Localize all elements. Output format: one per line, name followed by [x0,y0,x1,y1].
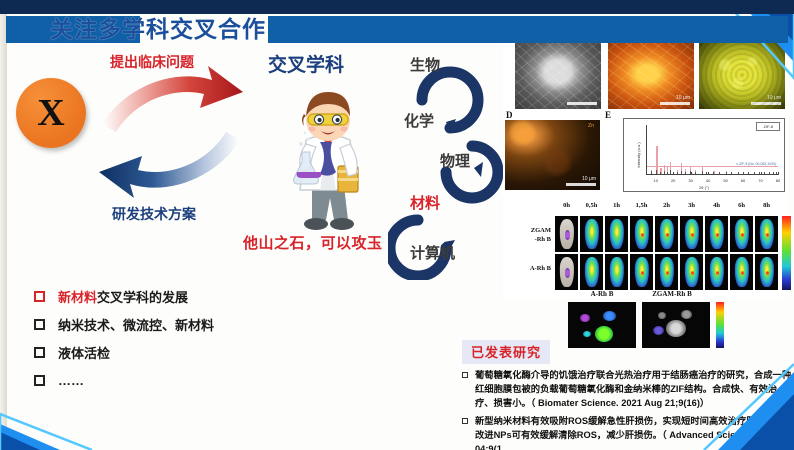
signal-hotspot [716,233,720,237]
signal-hotspot [741,233,745,237]
scalebar-b [660,102,690,105]
topic-bullet-list: 新材料交叉学科的发展 纳米技术、微流控、新材料 液体活检 …… [34,282,334,394]
mouse-body [609,257,623,287]
spiral-label-materials: 材料 [410,192,440,213]
panel-label-e: E [605,110,611,120]
scalebar-c-text: 10 μm [767,95,781,101]
scalebar-c [751,102,781,105]
mouse-image [705,254,728,290]
checkbox-icon[interactable] [34,347,45,358]
panel-label-d: D [506,110,513,120]
xrd-x-tick-label: 30 [688,178,692,183]
mouse-image [630,216,653,252]
signal-hotspot [565,230,570,239]
xrd-x-tick-label: 10 [653,178,657,183]
signal-hotspot [766,271,770,275]
mouse-image [755,216,778,252]
element-tag-zn: Zn [588,123,594,129]
organ-panel-label-1: A-Rh B [591,290,614,298]
timepoint-label: 4h [713,202,720,209]
page-title: 关注多学科交叉合作 [50,13,266,45]
signal-hotspot [666,271,670,275]
signal-hotspot [691,233,695,237]
title-block-right [268,16,788,43]
list-item[interactable]: 纳米技术、微流控、新材料 [34,310,334,338]
slide-title-bar: 关注多学科交叉合作 [0,14,794,44]
signal-hotspot [766,233,770,237]
discipline-spiral-diagram: 生物 化学 物理 材料 计算机 [388,42,506,280]
xrd-x-tick-label: 50 [723,178,727,183]
left-rail [0,14,7,450]
xrd-plot-area: 1020304050607080c-ZIF-8 (No. 00-062-1030… [646,125,778,175]
mouse-body [609,219,623,249]
signal-hotspot [641,233,645,237]
xrd-x-tick [778,172,779,175]
xrd-x-tick [673,172,674,175]
checkbox-icon[interactable] [34,319,45,330]
timepoint-label: 0,5h [586,202,598,209]
xrd-x-tick-label: 40 [706,178,710,183]
organ-blob [603,311,615,321]
xrd-x-tick [761,172,762,175]
xrd-x-tick [708,172,709,175]
checkbox-icon[interactable] [34,375,45,386]
spiral-label-physics: 物理 [440,150,470,171]
timepoint-label: 1h [613,202,620,209]
scalebar-b-text: 10 μm [676,95,690,101]
mouse-image [605,254,628,290]
xrd-reference-stick [764,172,765,174]
xrd-baseline [647,166,778,167]
mouse-image [680,254,703,290]
mouse-image [680,216,703,252]
publication-text-2: 新型纳米材料有效吸附ROS缓解急性肝损伤，实现短时间高效治疗肝损伤。改进NPs可… [475,414,792,450]
mouse-image [555,254,578,290]
xrd-reference-stick [695,172,696,174]
scalebar-d [566,183,596,186]
signal-hotspot [565,268,570,277]
panel-e-xrd-chart: ZIF-8 Intensity (a.u.) 1020304050607080c… [623,118,785,192]
mouse-body [584,219,598,249]
corner-decoration-bottom-left [0,406,150,450]
xrd-reference-stick [731,172,732,174]
xrd-reference-stick [776,172,777,174]
xrd-reference-stick [660,172,661,174]
panel-d-eds-zn-map: Zn 10 μm [505,120,600,190]
xrd-reference-stick [759,172,760,174]
xrd-reference-stick [681,171,682,174]
motto-text: 他山之石，可以攻玉 [243,232,383,253]
checkbox-icon [462,418,468,424]
bullet-text-4: …… [58,373,84,388]
signal-hotspot [741,271,745,275]
spiral-label-computer: 计算机 [410,242,455,263]
signal-hotspot [641,271,645,275]
xrd-reference-stick [706,172,707,174]
panel-a-sem-image [515,41,601,109]
xrd-reference-stick [690,171,691,174]
timepoint-label: 6h [738,202,745,209]
problem-source-circle: X [16,78,86,148]
spiral-label-chemistry: 化学 [404,110,434,131]
row-label: A-Rh B [503,264,551,273]
xrd-x-tick-label: 60 [741,178,745,183]
panel-c-eds-map: 10 μm [699,41,785,109]
organ-colorbar [716,302,724,348]
ex-vivo-organ-figure: A-Rh B ZGAM-Rh B [556,290,726,348]
xrd-x-tick-label: 20 [671,178,675,183]
list-item[interactable]: 液体活检 [34,338,334,366]
invivo-colorbar [782,216,791,290]
xrd-x-axis-label: 2θ (°) [624,185,784,190]
signal-hotspot [666,233,670,237]
bullet-text-2: 纳米技术、微流控、新材料 [58,315,214,334]
xrd-reference-stick [713,172,714,174]
organ-blob [658,312,666,318]
xrd-reference-stick [748,172,749,174]
xrd-reference-stick [685,172,686,174]
mouse-image [580,216,603,252]
timepoint-label: 0h [563,202,570,209]
xrd-reference-stick [677,172,678,174]
cross-discipline-heading: 交叉学科 [268,50,344,77]
organ-blob [580,314,590,322]
timepoint-label: 2h [663,202,670,209]
organ-image-zgam-rhb [642,302,710,348]
top-navy-band [0,0,794,14]
panel-b-sem-image: 10 μm [608,41,694,109]
mouse-image [605,216,628,252]
organ-blob [653,326,664,335]
spiral-label-biology: 生物 [410,54,440,75]
scientist-illustration [276,82,380,242]
checkbox-icon [462,372,468,378]
published-research-heading: 已发表研究 [462,340,550,364]
scalebar-a [567,102,597,105]
published-research-list: 葡萄糖氧化酶介导的饥饿治疗联合光热治疗用于结肠癌治疗的研究，合成一种红细胞膜包被… [462,368,792,450]
scalebar-d-text: 10 μm [582,176,596,182]
xrd-reference-stick [726,172,727,174]
cycle-arrows [96,62,246,202]
xrd-reference-stick [670,170,671,174]
mouse-image [730,216,753,252]
bullet-1-highlight: 新材料 [58,290,97,305]
publication-text-1: 葡萄糖氧化酶介导的饥饿治疗联合光热治疗用于结肠癌治疗的研究，合成一种红细胞膜包被… [475,368,792,410]
mouse-image [580,254,603,290]
timepoint-label: 3h [688,202,695,209]
xrd-annotation: c-ZIF-8 (No. 00-062-1030) [736,162,776,166]
list-item: 葡萄糖氧化酶介导的饥饿治疗联合光热治疗用于结肠癌治疗的研究，合成一种红细胞膜包被… [462,368,792,410]
mouse-image [705,216,728,252]
xrd-reference-stick [738,172,739,174]
xrd-reference-stick [743,172,744,174]
xrd-reference-stick [773,172,774,174]
organ-image-a-rhb [568,302,636,348]
xrd-reference-stick [651,171,652,174]
xrd-reference-stick [702,171,703,174]
list-item[interactable]: 新材料交叉学科的发展 [34,282,334,310]
mouse-image [655,216,678,252]
row-label: ZGAM-Rh B [503,226,551,244]
signal-hotspot [691,271,695,275]
xrd-reference-stick [769,172,770,174]
mouse-image [730,254,753,290]
mouse-image [555,216,578,252]
mouse-image [655,254,678,290]
xrd-reference-stick [664,171,665,174]
mouse-image [755,254,778,290]
circle-mark: X [16,78,86,148]
mouse-image [630,254,653,290]
organ-blob [666,320,685,337]
xrd-x-tick-label: 70 [758,178,762,183]
list-item[interactable]: …… [34,366,334,394]
organ-panel-label-2: ZGAM-Rh B [652,290,691,298]
xrd-reference-stick [656,170,657,174]
mouse-body [584,257,598,287]
in-vivo-imaging-figure: 0h0,5h1h1,5h2h3h4h6h8hZGAM-Rh BA-Rh B [503,200,788,292]
organ-blob [681,310,692,318]
bullet-text-3: 液体活检 [58,343,110,362]
checkbox-icon[interactable] [34,291,45,302]
xrd-reference-stick [754,172,755,174]
xrd-x-tick-label: 80 [776,178,780,183]
bullet-1-rest: 交叉学科的发展 [97,290,188,305]
xrd-y-axis-label: Intensity (a.u.) [636,142,641,167]
organ-blob [583,331,591,337]
presentation-slide: 关注多学科交叉合作 X 提出临床问题 研发技术方案 [0,0,794,450]
list-item: 新型纳米材料有效吸附ROS缓解急性肝损伤，实现短时间高效治疗肝损伤。改进NPs可… [462,414,792,450]
timepoint-label: 1,5h [636,202,648,209]
timepoint-label: 8h [763,202,770,209]
xrd-reference-stick [667,172,668,174]
return-arrow-label: 研发技术方案 [112,204,196,224]
signal-hotspot [716,271,720,275]
organ-blob [595,326,613,342]
bullet-text-1: 新材料交叉学科的发展 [58,287,188,306]
xrd-reference-stick [719,172,720,174]
